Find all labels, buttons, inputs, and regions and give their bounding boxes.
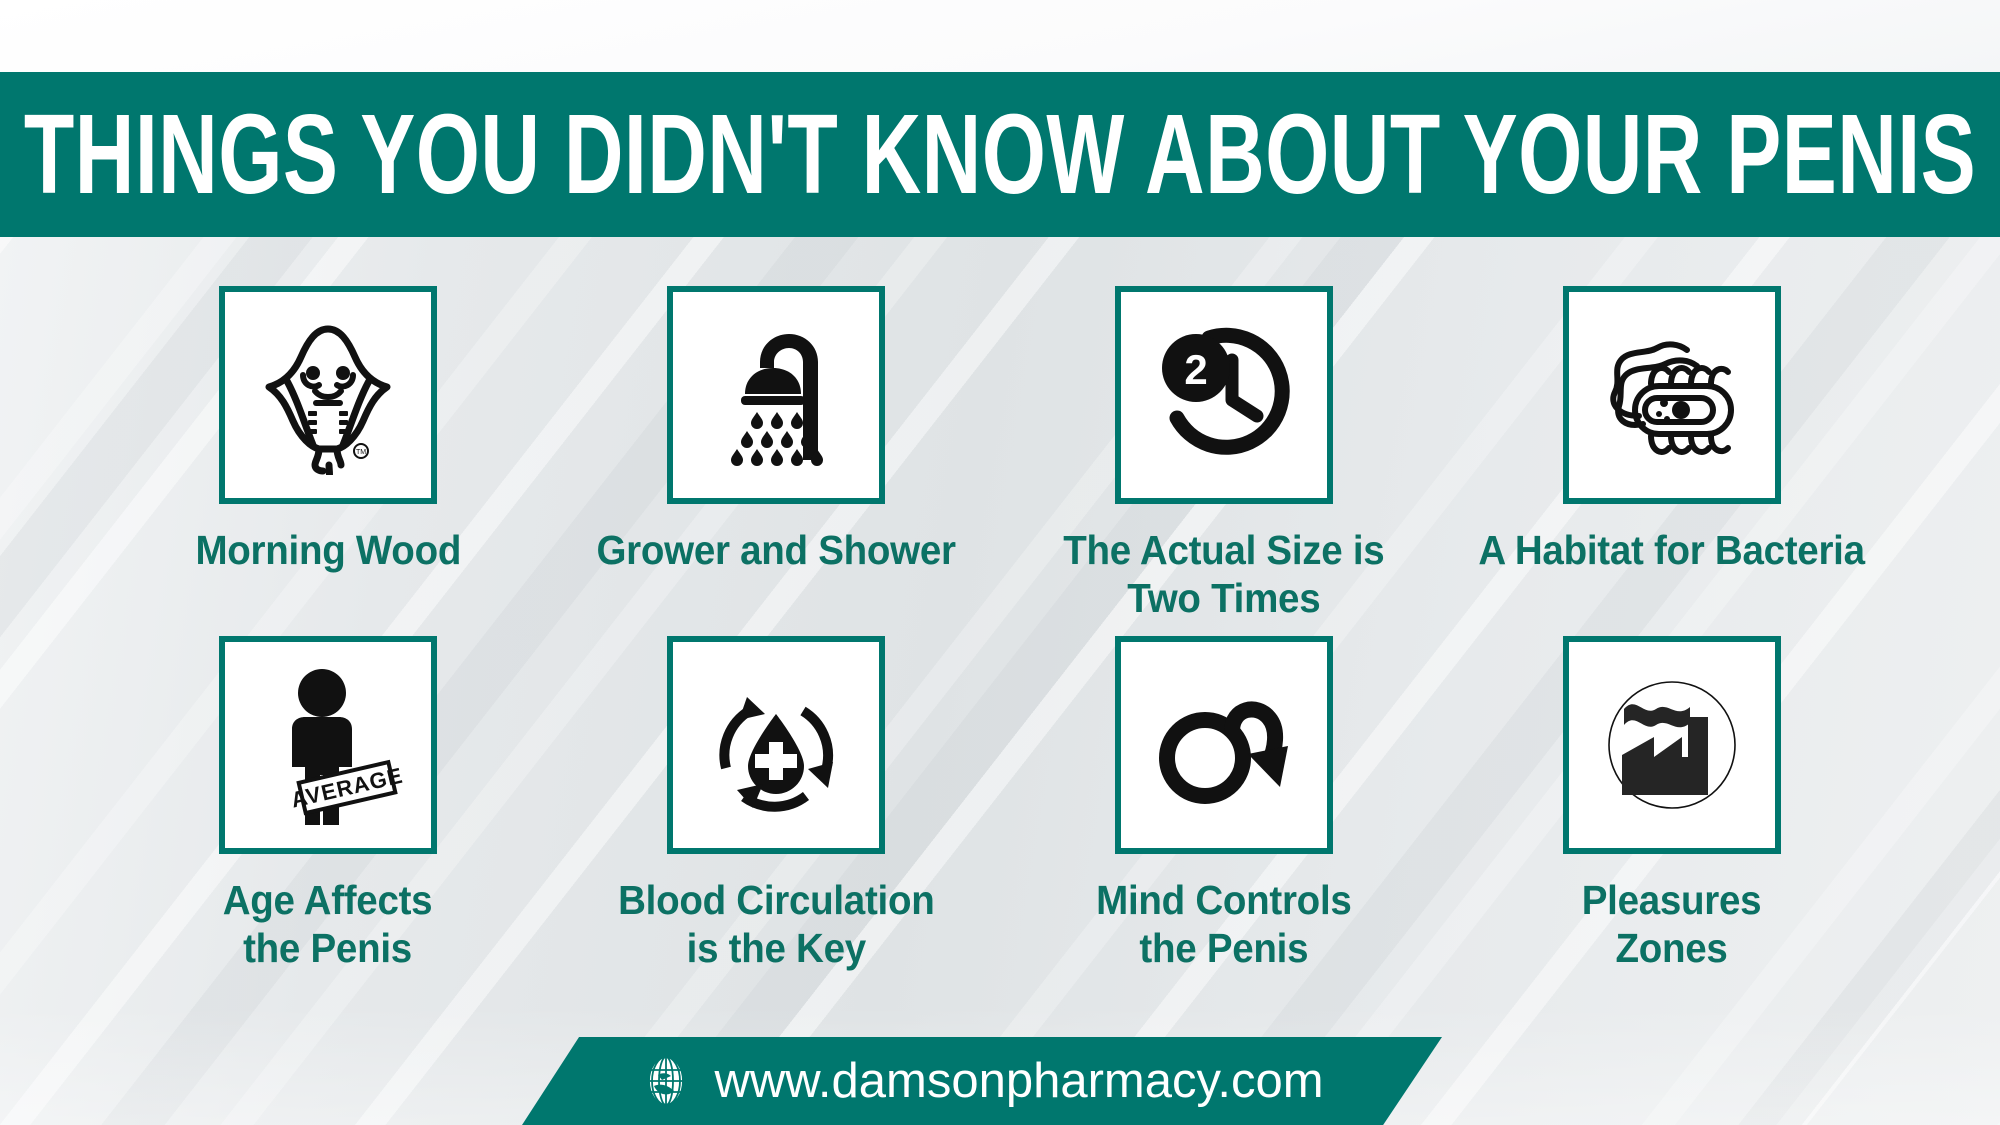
shower-head-icon xyxy=(701,320,851,470)
card-morning-wood[interactable]: TM Morning Wood xyxy=(104,286,552,623)
icon-tile xyxy=(667,286,885,504)
icon-tile xyxy=(1563,636,1781,854)
icon-tile xyxy=(1563,286,1781,504)
icon-tile xyxy=(1115,636,1333,854)
card-label: Grower and Shower xyxy=(596,526,955,574)
icon-tile xyxy=(667,636,885,854)
card-age-affects-the-penis[interactable]: AVERAGE Age Affects the Penis xyxy=(104,636,552,973)
card-label: A Habitat for Bacteria xyxy=(1479,526,1865,574)
infographic-poster: THINGS YOU DIDN'T KNOW ABOUT YOUR PENIS xyxy=(0,0,2000,1125)
footer-ribbon[interactable]: www.damsonpharmacy.com xyxy=(522,1037,1442,1125)
card-grower-and-shower[interactable]: Grower and Shower xyxy=(552,286,1000,623)
card-mind-controls-the-penis[interactable]: Mind Controls the Penis xyxy=(1000,636,1448,973)
background-top-highlight xyxy=(0,0,2000,72)
bacteria-icon xyxy=(1595,320,1750,470)
svg-text:TM: TM xyxy=(356,449,366,456)
card-pleasures-zones[interactable]: Pleasures Zones xyxy=(1448,636,1896,973)
card-label: Morning Wood xyxy=(195,526,461,574)
card-row-1: TM Morning Wood xyxy=(0,286,2000,623)
clock-badge-number: 2 xyxy=(1184,346,1207,393)
icon-tile: 2 xyxy=(1115,286,1333,504)
stingray-icon: TM xyxy=(253,315,403,475)
card-label: Blood Circulation is the Key xyxy=(618,876,934,973)
card-blood-circulation[interactable]: Blood Circulation is the Key xyxy=(552,636,1000,973)
page-title: THINGS YOU DIDN'T KNOW ABOUT YOUR PENIS xyxy=(24,98,1976,211)
footer: www.damsonpharmacy.com xyxy=(0,1015,2000,1125)
male-symbol-arrow-icon xyxy=(1147,670,1302,820)
card-label: The Actual Size is Two Times xyxy=(1063,526,1384,623)
globe-icon xyxy=(640,1055,692,1107)
factory-circle-icon xyxy=(1596,669,1748,821)
card-label: Pleasures Zones xyxy=(1582,876,1762,973)
card-label: Mind Controls the Penis xyxy=(1096,876,1351,973)
clock-two-times-icon: 2 xyxy=(1149,320,1299,470)
blood-circulation-icon xyxy=(701,670,851,820)
average-person-icon: AVERAGE xyxy=(253,663,403,828)
card-actual-size-two-times[interactable]: 2 The Actual Size is Two Times xyxy=(1000,286,1448,623)
header-banner: THINGS YOU DIDN'T KNOW ABOUT YOUR PENIS xyxy=(0,72,2000,237)
icon-tile: AVERAGE xyxy=(219,636,437,854)
website-url[interactable]: www.damsonpharmacy.com xyxy=(714,1053,1323,1109)
card-row-2: AVERAGE Age Affects the Penis xyxy=(0,636,2000,973)
card-label: Age Affects the Penis xyxy=(223,876,433,973)
card-habitat-for-bacteria[interactable]: A Habitat for Bacteria xyxy=(1448,286,1896,623)
icon-tile: TM xyxy=(219,286,437,504)
